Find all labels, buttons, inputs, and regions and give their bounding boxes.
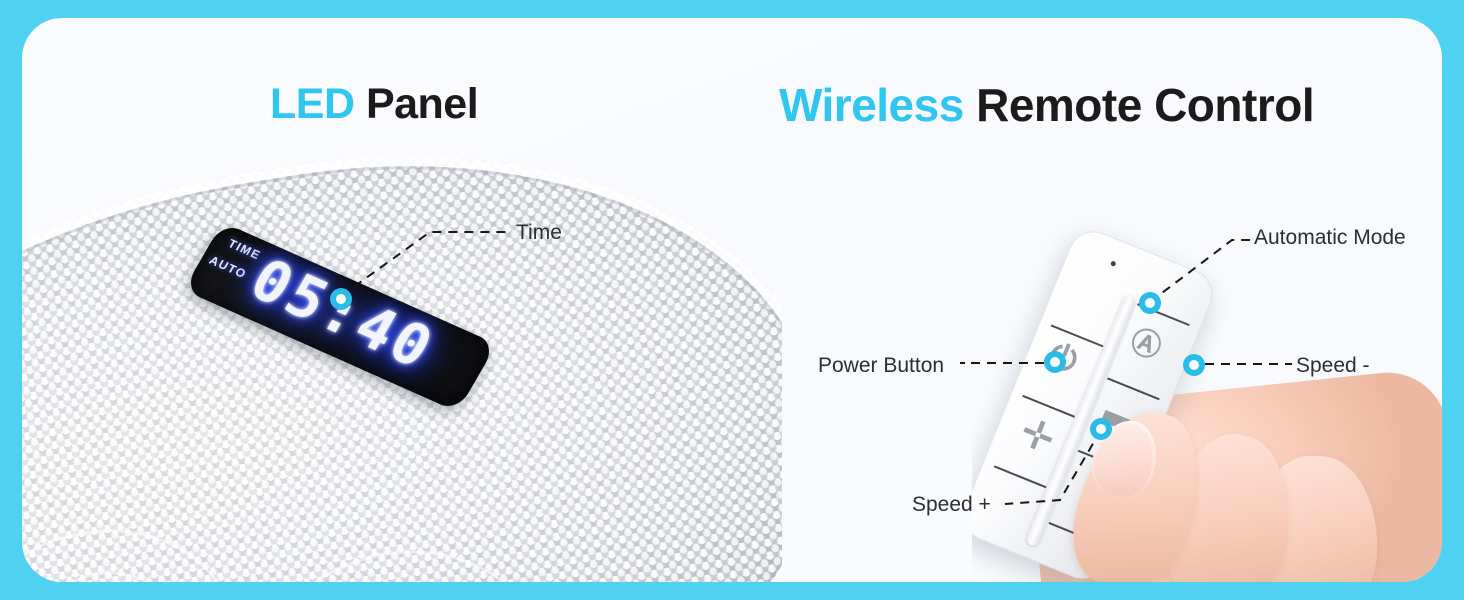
remote-control-photo: ⏻ Ⓐ ✛ ▬: [972, 198, 1442, 582]
callout-dot-power[interactable]: [1044, 351, 1066, 373]
callout-dot-speed-up[interactable]: [1090, 418, 1112, 440]
led-time-label: TIME: [226, 236, 264, 262]
callout-dot-auto-mode[interactable]: [1139, 292, 1161, 314]
page-title-led-panel: LED Panel: [270, 80, 478, 129]
callout-label-time: Time: [516, 221, 562, 245]
led-auto-label: AUTO: [207, 253, 250, 281]
callout-dot-time[interactable]: [330, 288, 352, 310]
callout-dot-speed-down[interactable]: [1183, 354, 1205, 376]
title-highlight: LED: [270, 80, 355, 128]
title-rest: Remote Control: [964, 79, 1314, 131]
callout-label-power: Power Button: [818, 354, 944, 378]
plus-icon[interactable]: ✛: [1013, 409, 1061, 464]
infographic-root: TIME AUTO 05:40 ⏻ Ⓐ ✛ ▬: [0, 0, 1464, 600]
callout-label-speed-down: Speed -: [1296, 354, 1370, 378]
title-rest: Panel: [355, 80, 479, 128]
content-card: TIME AUTO 05:40 ⏻ Ⓐ ✛ ▬: [22, 18, 1442, 582]
page-title-remote-control: Wireless Remote Control: [779, 78, 1314, 132]
auto-mode-icon[interactable]: Ⓐ: [1125, 315, 1169, 367]
ir-led-icon: [1110, 260, 1117, 267]
title-highlight: Wireless: [779, 79, 964, 131]
button-divider: [994, 465, 1046, 487]
callout-label-auto-mode: Automatic Mode: [1254, 226, 1406, 250]
callout-label-speed-up: Speed +: [912, 493, 991, 517]
